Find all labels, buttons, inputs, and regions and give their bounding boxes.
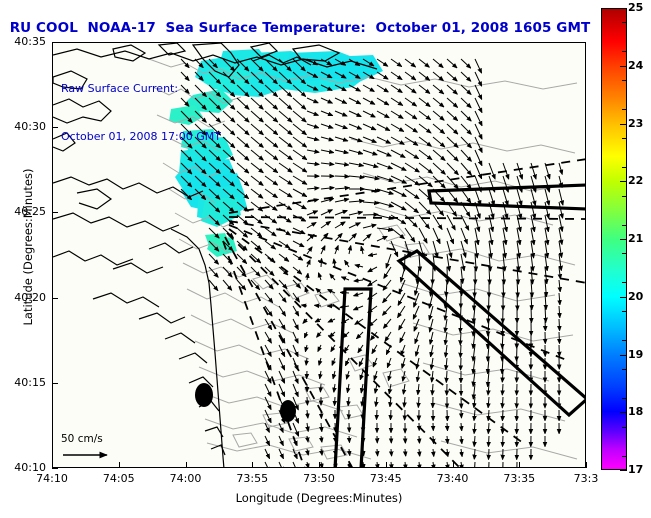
current-vector <box>321 462 322 468</box>
current-vector <box>419 85 430 93</box>
colorbar-minor-tick <box>622 369 627 370</box>
colorbar-minor-tick <box>622 311 627 312</box>
current-vector <box>398 306 405 318</box>
colorbar-tick-mark <box>620 470 627 471</box>
current-vector <box>319 358 321 365</box>
current-vector <box>335 211 347 216</box>
current-vector <box>349 246 351 254</box>
current-vector <box>461 150 471 161</box>
current-vector <box>376 397 377 406</box>
current-vector <box>474 462 475 468</box>
current-vector <box>320 371 321 379</box>
current-vector <box>363 225 376 228</box>
current-vector <box>429 306 433 320</box>
x-tick-label: 73:35 <box>489 472 549 485</box>
current-vector <box>363 137 376 142</box>
current-vector <box>460 319 461 332</box>
current-vector <box>306 358 307 365</box>
current-vector <box>383 306 392 315</box>
current-vector <box>307 223 316 229</box>
current-vector <box>237 150 249 160</box>
colorbar-tick-mark <box>620 66 627 67</box>
current-vector <box>346 358 350 366</box>
current-vector <box>237 137 249 148</box>
current-vector <box>209 280 218 291</box>
colorbar-tick-mark <box>620 181 627 182</box>
current-vector <box>447 436 448 444</box>
current-vector <box>403 384 405 394</box>
current-vector <box>265 150 278 160</box>
current-vector <box>318 345 321 351</box>
current-vector <box>293 241 304 247</box>
current-vector <box>415 332 419 344</box>
current-vector <box>461 98 471 108</box>
current-vector <box>334 384 335 392</box>
current-vector <box>419 449 420 456</box>
current-vector <box>391 59 402 67</box>
current-vector <box>419 436 420 443</box>
current-vector <box>358 345 363 353</box>
current-vector <box>279 124 292 135</box>
current-vector <box>447 72 457 81</box>
current-vector <box>391 98 403 105</box>
current-vector <box>293 111 306 122</box>
current-vector <box>433 462 434 468</box>
current-vector <box>265 345 271 356</box>
current-vector <box>335 176 349 177</box>
current-vector <box>461 59 471 68</box>
current-vector <box>391 111 403 118</box>
current-vector <box>265 462 270 468</box>
x-tick-mark <box>519 462 520 468</box>
current-vector <box>387 358 391 368</box>
current-vector <box>418 397 419 407</box>
current-vector <box>402 358 405 368</box>
current-vector <box>383 280 391 290</box>
page-title: RU COOL NOAA-17 Sea Surface Temperature:… <box>0 20 600 36</box>
current-vector <box>447 163 458 175</box>
current-vector <box>279 241 290 248</box>
current-vector <box>399 280 405 293</box>
current-vector <box>405 228 415 242</box>
current-vector <box>305 345 307 352</box>
current-vector <box>502 371 503 382</box>
colorbar-minor-tick <box>622 282 627 283</box>
current-vector <box>405 111 417 119</box>
current-vector <box>405 124 417 132</box>
colorbar-minor-tick <box>622 225 627 226</box>
current-vector <box>363 124 376 130</box>
current-vector <box>391 137 404 144</box>
current-vector <box>279 111 292 122</box>
x-tick-mark <box>386 462 387 468</box>
current-vector <box>251 150 263 160</box>
current-vector <box>419 59 429 67</box>
current-vector <box>433 215 442 229</box>
current-vector <box>389 384 391 394</box>
current-vector <box>446 371 447 382</box>
current-vector <box>419 111 431 120</box>
current-vector <box>293 150 307 160</box>
colorbar-tick-label: 21 <box>628 232 643 245</box>
current-vector <box>265 176 278 185</box>
colorbar-tick-label: 24 <box>628 59 643 72</box>
current-vector <box>377 462 378 468</box>
x-tick-mark <box>186 462 187 468</box>
current-vector <box>559 280 560 292</box>
current-vector <box>265 267 274 276</box>
x-tick-label: 73:55 <box>222 472 282 485</box>
current-vector <box>391 72 402 80</box>
current-vector <box>373 358 377 367</box>
colorbar-tick-mark <box>620 8 627 9</box>
current-vector <box>237 98 249 109</box>
surface-current-vectors <box>181 59 563 468</box>
current-vector <box>335 188 349 189</box>
current-vector <box>489 449 490 459</box>
current-vector <box>317 332 321 337</box>
current-vector <box>251 176 263 185</box>
current-vector <box>413 306 419 319</box>
current-vector <box>461 111 471 121</box>
current-vector <box>433 111 444 120</box>
current-vector <box>279 189 292 197</box>
current-vector <box>316 288 321 293</box>
current-vector <box>377 98 389 105</box>
current-vector <box>265 228 276 236</box>
current-vector <box>433 150 445 160</box>
colorbar-minor-tick <box>622 109 627 110</box>
colorbar-minor-tick <box>622 22 627 23</box>
current-vector <box>279 150 292 160</box>
current-vector <box>405 163 419 172</box>
scale-legend: 50 cm/s <box>61 433 121 466</box>
current-vector <box>293 137 307 147</box>
current-vector <box>265 436 270 445</box>
current-vector <box>347 384 349 393</box>
current-vector <box>417 371 419 382</box>
current-vector <box>363 215 378 216</box>
current-vector <box>433 241 438 257</box>
current-vector <box>349 436 350 442</box>
current-vector <box>475 85 482 99</box>
current-vector <box>321 124 333 128</box>
current-vector <box>279 163 292 172</box>
current-vector <box>432 384 433 395</box>
current-vector <box>386 254 391 268</box>
current-vector <box>321 436 322 442</box>
current-vector <box>419 72 430 80</box>
current-vector <box>315 305 321 306</box>
current-vector <box>321 199 334 202</box>
current-vector <box>391 462 392 468</box>
current-vector <box>368 267 377 272</box>
y-tick-mark <box>52 127 58 128</box>
current-vector <box>321 98 332 103</box>
current-vector <box>375 384 377 393</box>
current-vector <box>321 188 334 189</box>
current-vector <box>251 137 263 147</box>
current-vector <box>432 371 433 382</box>
current-vector <box>359 358 363 366</box>
current-vector <box>279 215 291 222</box>
x-tick-mark <box>453 462 454 468</box>
current-vector <box>307 98 318 103</box>
y-tick-mark <box>52 212 58 213</box>
current-vector <box>489 163 495 179</box>
current-vector <box>377 124 390 131</box>
current-vector <box>363 150 377 155</box>
current-vector <box>321 246 325 254</box>
current-vector <box>279 137 292 147</box>
colorbar-minor-tick <box>622 340 627 341</box>
current-vector <box>332 358 335 365</box>
current-vector <box>307 462 309 468</box>
current-vector <box>447 462 448 468</box>
current-vector <box>303 319 307 323</box>
current-vector <box>446 345 448 357</box>
current-vector <box>503 436 504 446</box>
current-vector <box>307 124 319 128</box>
current-vector <box>433 449 434 456</box>
colorbar-tick-mark <box>620 297 627 298</box>
colorbar-minor-tick <box>622 51 627 52</box>
current-vector <box>307 397 308 405</box>
current-vector <box>302 305 307 306</box>
current-vector <box>279 280 287 289</box>
current-vector <box>279 384 285 396</box>
colorbar-tick-mark <box>620 355 627 356</box>
current-vector <box>488 436 489 446</box>
current-vector <box>335 163 349 165</box>
current-vector <box>331 345 335 352</box>
current-vector <box>419 215 429 229</box>
current-vector <box>334 259 335 267</box>
current-vector <box>445 319 447 332</box>
current-vector <box>475 72 482 86</box>
current-vector <box>405 189 419 199</box>
current-vector <box>405 85 416 93</box>
current-vector <box>447 241 452 257</box>
current-vector <box>559 332 560 343</box>
current-vector <box>237 124 249 135</box>
current-vector <box>447 228 454 244</box>
current-vector <box>335 124 347 129</box>
current-vector <box>559 306 560 318</box>
current-vector <box>461 423 462 431</box>
current-vector <box>377 150 391 156</box>
current-vector <box>447 137 458 147</box>
current-vector <box>342 277 350 280</box>
current-vector <box>349 176 364 178</box>
current-vector <box>223 280 232 290</box>
colorbar-tick-label: 23 <box>628 117 643 130</box>
current-vector <box>307 137 319 140</box>
current-vector <box>405 202 418 213</box>
current-vector <box>363 202 379 203</box>
x-tick-label: 73:40 <box>423 472 483 485</box>
current-vector <box>419 462 420 468</box>
current-vector <box>355 265 363 267</box>
x-tick-mark <box>319 462 320 468</box>
annotation-line-2: October 01, 2008 17:00 GMT <box>61 129 221 145</box>
current-vector <box>419 98 430 107</box>
current-vector <box>293 189 307 197</box>
current-vector <box>433 228 440 244</box>
current-vector <box>398 293 405 305</box>
current-vector <box>447 98 458 107</box>
y-tick-label: 40:15 <box>0 376 46 389</box>
current-vector <box>531 163 536 179</box>
current-vector <box>559 293 560 305</box>
x-tick-label: 73:3 <box>556 472 616 485</box>
current-vector <box>361 384 363 393</box>
current-vector <box>474 410 475 421</box>
y-tick-mark <box>52 383 58 384</box>
current-vector <box>363 462 364 468</box>
current-vector <box>279 436 283 446</box>
current-vector <box>307 436 308 442</box>
y-tick-label: 40:10 <box>0 461 46 474</box>
colorbar-minor-tick <box>622 398 627 399</box>
current-vector <box>335 222 345 228</box>
current-vector <box>265 163 278 173</box>
annotation-block: Raw Surface Current: October 01, 2008 17… <box>61 49 221 177</box>
x-axis-title: Longitude (Degrees:Minutes) <box>52 491 586 505</box>
current-vector <box>349 150 363 154</box>
current-vector <box>307 111 318 115</box>
current-vector <box>293 306 299 316</box>
current-vector <box>559 267 560 279</box>
current-vector <box>475 163 482 179</box>
current-vector <box>447 124 458 134</box>
current-vector <box>321 111 333 116</box>
current-vector <box>237 111 249 122</box>
x-tick-mark <box>252 462 253 468</box>
current-vector <box>307 260 310 267</box>
current-vector <box>559 163 562 174</box>
current-vector <box>430 332 433 344</box>
y-axis-title: Latitude (Degrees:Minutes) <box>21 127 35 367</box>
current-vector <box>251 163 263 173</box>
current-vector <box>321 137 333 140</box>
current-vector <box>474 397 475 408</box>
current-vector <box>293 371 298 383</box>
current-vector <box>349 223 360 228</box>
current-vector <box>461 137 471 148</box>
current-vector <box>475 59 482 73</box>
current-vector <box>399 319 405 330</box>
current-vector <box>293 345 298 357</box>
current-vector <box>279 371 285 383</box>
current-vector <box>447 423 448 431</box>
current-vector <box>307 247 312 254</box>
colorbar-tick-mark <box>620 124 627 125</box>
current-vector <box>335 246 338 254</box>
current-vector <box>328 319 335 322</box>
colorbar-tick-label: 17 <box>628 463 643 476</box>
colorbar-tick-label: 22 <box>628 174 643 187</box>
current-vector <box>349 163 363 166</box>
current-vector <box>405 449 406 456</box>
current-vector <box>461 163 471 175</box>
current-vector <box>377 72 388 79</box>
current-vector <box>349 449 350 456</box>
current-vector <box>475 124 482 139</box>
current-vector <box>354 306 363 310</box>
current-vector <box>419 163 432 173</box>
current-vector <box>279 449 283 459</box>
current-vector <box>417 358 420 369</box>
current-vector <box>488 397 489 408</box>
current-vector <box>265 202 277 210</box>
current-vector <box>377 410 378 419</box>
current-vector <box>237 280 246 290</box>
current-vector <box>279 98 292 109</box>
current-vector <box>305 332 308 338</box>
current-vector <box>419 202 431 214</box>
current-vector <box>335 199 349 202</box>
current-vector <box>419 124 431 133</box>
current-vector <box>348 397 349 406</box>
current-vector <box>461 436 462 444</box>
current-vector <box>391 215 406 224</box>
current-vector <box>223 124 235 135</box>
current-vector <box>223 111 235 122</box>
current-vector <box>293 332 298 343</box>
current-vector <box>349 212 363 215</box>
colorbar-minor-tick <box>622 138 627 139</box>
x-tick-label: 74:05 <box>89 472 149 485</box>
current-vector <box>388 371 391 381</box>
current-vector <box>265 215 277 223</box>
colorbar-minor-tick <box>622 80 627 81</box>
current-vector <box>474 423 475 433</box>
current-vector <box>430 319 433 332</box>
current-vector <box>391 85 402 93</box>
y-tick-mark <box>52 42 58 43</box>
current-vector <box>321 221 330 228</box>
current-vector <box>265 332 271 343</box>
scale-legend-label: 50 cm/s <box>61 433 121 445</box>
current-vector <box>279 254 289 261</box>
current-vector <box>293 176 307 184</box>
current-vector <box>251 111 263 122</box>
current-vector <box>377 202 393 207</box>
current-vector <box>361 246 363 254</box>
current-vector <box>333 371 335 379</box>
current-vector <box>363 234 371 241</box>
current-vector <box>265 111 278 122</box>
current-vector <box>279 293 286 302</box>
current-vector <box>368 254 377 256</box>
current-vector <box>354 293 363 296</box>
current-vector <box>377 449 378 456</box>
current-vector <box>265 449 270 459</box>
current-vector <box>279 462 283 468</box>
colorbar-tick-label: 25 <box>628 1 643 14</box>
current-vector <box>335 150 348 153</box>
current-vector <box>447 59 457 68</box>
current-vector <box>488 423 489 434</box>
current-vector <box>475 98 482 113</box>
current-vector <box>391 189 406 197</box>
current-vector <box>345 261 349 268</box>
current-vector <box>391 124 404 131</box>
current-vector <box>330 274 335 280</box>
current-vector <box>447 215 455 230</box>
current-vector <box>405 462 406 468</box>
